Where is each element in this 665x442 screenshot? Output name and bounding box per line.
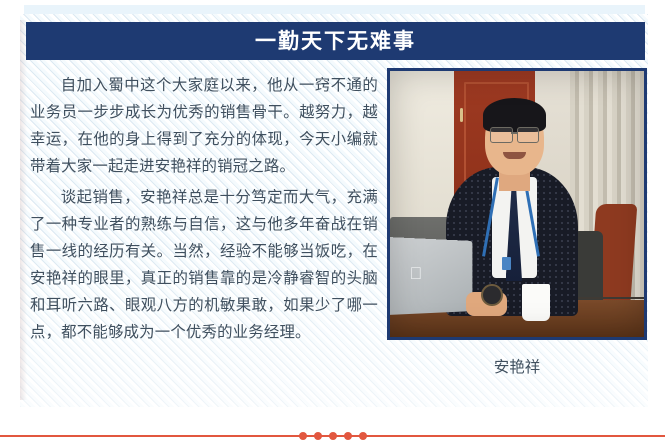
photo-vignette bbox=[390, 71, 644, 337]
footer-dot bbox=[359, 432, 367, 440]
article-title-bar: 一勤天下无难事 bbox=[26, 22, 645, 60]
footer-divider bbox=[0, 430, 665, 442]
footer-dot bbox=[299, 432, 307, 440]
left-edge-shadow bbox=[20, 20, 27, 400]
footer-dot bbox=[329, 432, 337, 440]
portrait-photo:  bbox=[387, 68, 647, 340]
article-paragraph-1: 自加入蜀中这个大家庭以来，他从一窍不通的业务员一步步成长为优秀的销售骨干。越努力… bbox=[30, 72, 378, 180]
photo-scene:  bbox=[390, 71, 644, 337]
footer-divider-dots bbox=[0, 430, 665, 442]
page-title: 一勤天下无难事 bbox=[255, 31, 416, 52]
article-page: 一勤天下无难事 自加入蜀中这个大家庭以来，他从一窍不通的业务员一步步成长为优秀的… bbox=[0, 0, 665, 442]
photo-caption: 安艳祥 bbox=[387, 355, 647, 377]
article-paragraph-2: 谈起销售，安艳祥总是十分笃定而大气，充满了一种专业者的熟练与自信，这与他多年奋战… bbox=[30, 184, 378, 346]
footer-dot bbox=[344, 432, 352, 440]
footer-dot bbox=[314, 432, 322, 440]
article-body: 自加入蜀中这个大家庭以来，他从一窍不通的业务员一步步成长为优秀的销售骨干。越努力… bbox=[30, 72, 378, 350]
